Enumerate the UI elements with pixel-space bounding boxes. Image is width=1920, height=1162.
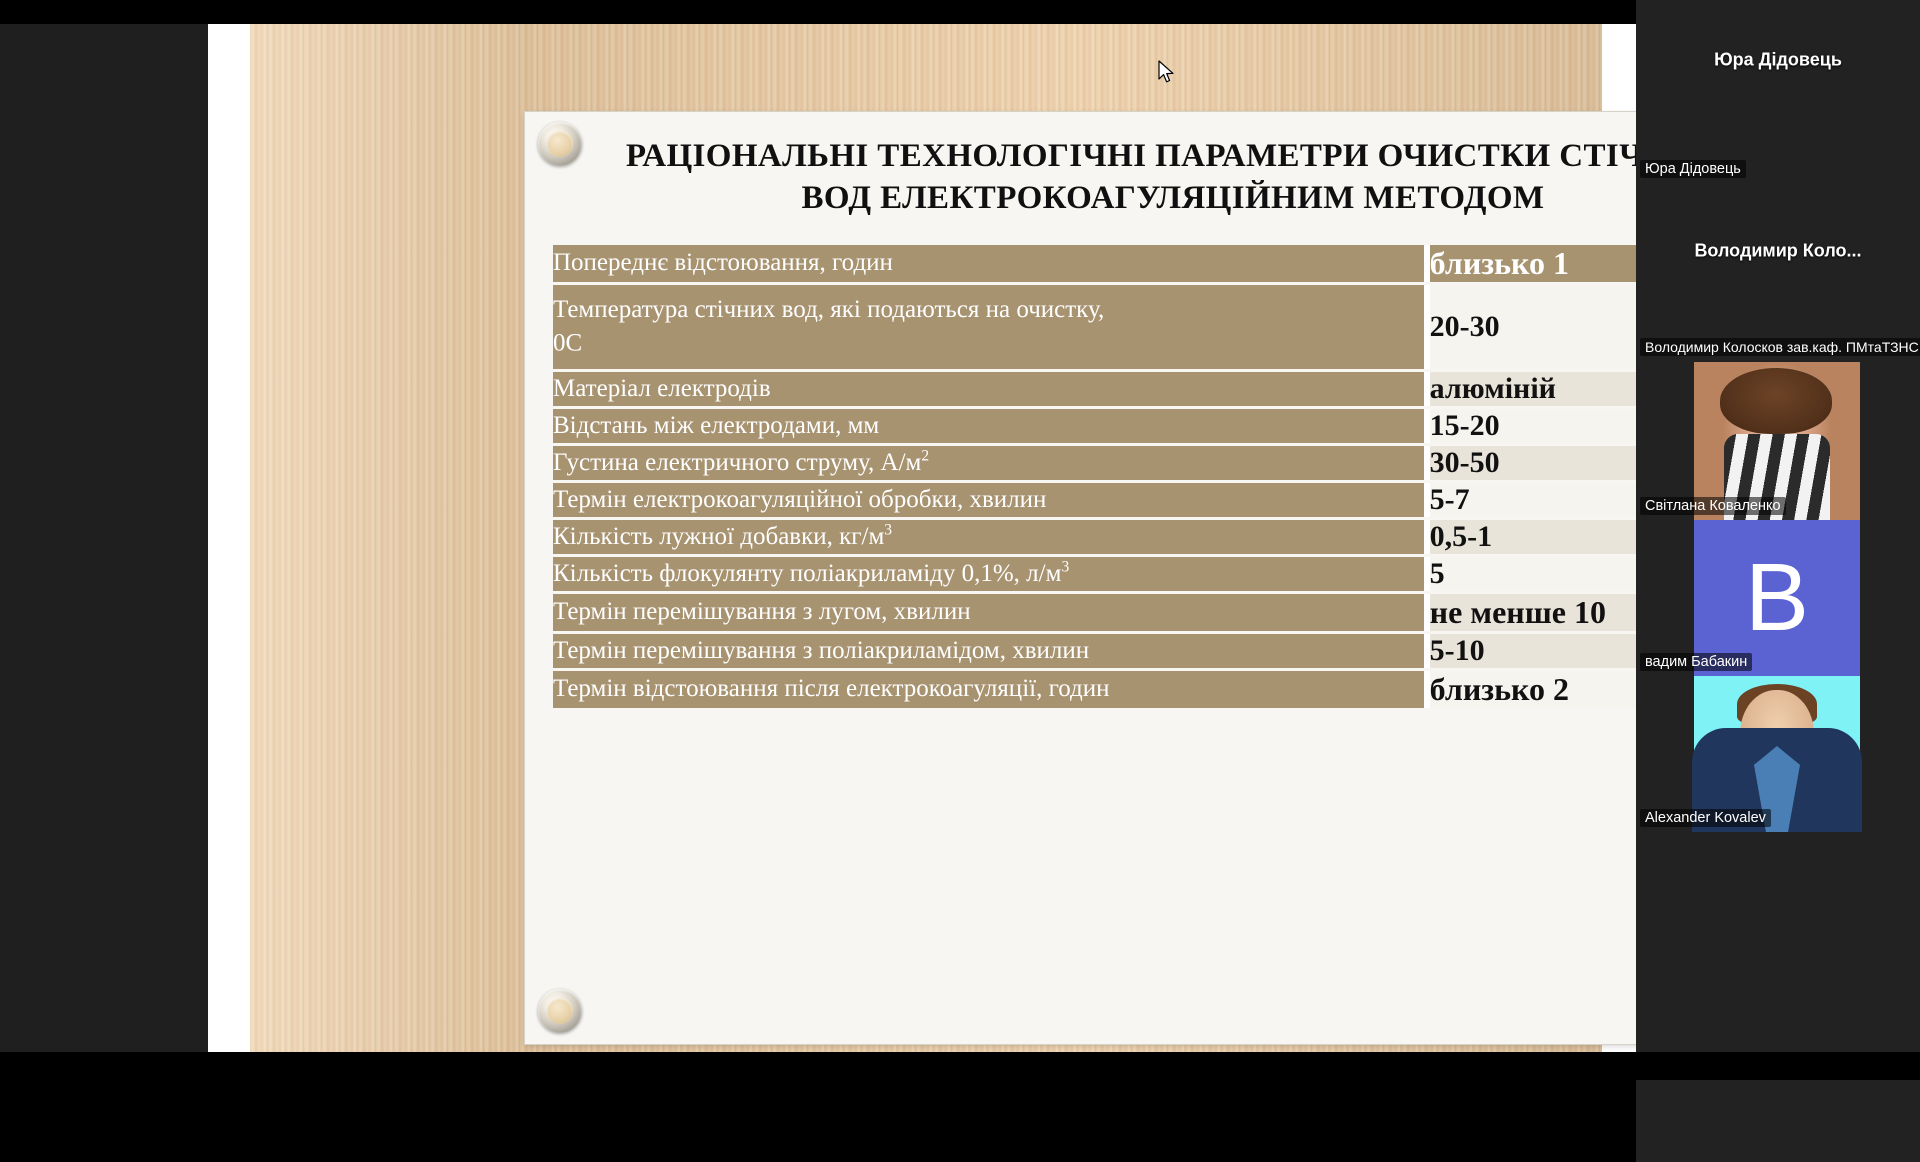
table-row: Попереднє відстоювання, годин близько 1 <box>553 245 1636 282</box>
participant-name-label: Alexander Kovalev <box>1640 809 1771 827</box>
parameters-table-body: Попереднє відстоювання, годин близько 1 … <box>553 245 1636 708</box>
row-value: 20-30 <box>1424 285 1636 369</box>
row-value: 0,5-1 <box>1424 520 1636 554</box>
row-label-text: Температура стічних вод, які подаються н… <box>553 296 1424 359</box>
row-label: Термін перемішування з лугом, хвилин <box>553 594 1424 631</box>
row-label: Попереднє відстоювання, годин <box>553 245 1424 282</box>
row-value: 15-20 <box>1424 409 1636 443</box>
participant-center-name: Юра Дідовець <box>1636 50 1920 71</box>
row-value: 5-10 <box>1424 634 1636 668</box>
row-label: Кількість флокулянту поліакриламіду 0,1%… <box>553 557 1424 591</box>
letterbox-bottom-bar <box>0 1052 1920 1080</box>
participant-caption-volodymyr-koloskov: Володимир Колосков зав.каф. ПМтаТЗНС <box>1636 306 1920 362</box>
table-row: Термін відстоювання після електрокоагуля… <box>553 671 1636 708</box>
row-label: Відстань між електродами, мм <box>553 409 1424 443</box>
row-value: не менше 10 <box>1424 594 1636 631</box>
slide-title: РАЦІОНАЛЬНІ ТЕХНОЛОГІЧНІ ПАРАМЕТРИ ОЧИСТ… <box>598 136 1636 219</box>
table-row: Термін перемішування з поліакриламідом, … <box>553 634 1636 668</box>
screw-decoration-top-left <box>538 122 582 166</box>
row-value: близько 1 <box>1424 245 1636 282</box>
row-label: Термін перемішування з поліакриламідом, … <box>553 634 1424 668</box>
table-row: Відстань між електродами, мм 15-20 <box>553 409 1636 443</box>
parameters-table: Попереднє відстоювання, годин близько 1 … <box>553 242 1636 711</box>
row-label: Матеріал електродів <box>553 372 1424 406</box>
participant-center-name: Володимир Коло... <box>1636 241 1920 262</box>
row-label-text: Кількість флокулянту поліакриламіду 0,1%… <box>553 560 1069 587</box>
shared-slide-stage[interactable]: РАЦІОНАЛЬНІ ТЕХНОЛОГІЧНІ ПАРАМЕТРИ ОЧИСТ… <box>208 24 1636 1056</box>
table-row: Матеріал електродів алюміній <box>553 372 1636 406</box>
letterbox-top-bar <box>0 0 1636 24</box>
participants-rail[interactable]: Юра Дідовець Юра Дідовець Володимир Коло… <box>1636 0 1920 1080</box>
participant-tile-vadym-babakin[interactable]: В вадим Бабакин <box>1636 520 1920 676</box>
row-value: 5-7 <box>1424 483 1636 517</box>
participant-tile-yura-didovets[interactable]: Юра Дідовець <box>1636 0 1920 120</box>
row-label: Температура стічних вод, які подаються н… <box>553 285 1424 369</box>
row-value: близько 2 <box>1424 671 1636 708</box>
participants-rail-empty-space <box>1636 832 1920 1162</box>
row-value: 5 <box>1424 557 1636 591</box>
participant-tile-volodymyr-koloskov[interactable]: Володимир Коло... <box>1636 196 1920 306</box>
participant-caption-yura-didovets: Юра Дідовець <box>1636 120 1920 196</box>
table-row: Температура стічних вод, які подаються н… <box>553 285 1636 369</box>
participant-name-label: вадим Бабакин <box>1640 653 1752 671</box>
row-label-text: Кількість лужної добавки, кг/м3 <box>553 523 892 550</box>
row-label-text: Густина електричного струму, А/м2 <box>553 449 929 476</box>
participant-name-label: Володимир Колосков зав.каф. ПМтаТЗНС <box>1640 338 1920 356</box>
participant-name-label: Юра Дідовець <box>1640 160 1746 178</box>
row-label: Густина електричного струму, А/м2 <box>553 446 1424 480</box>
row-label: Термін електрокоагуляційної обробки, хви… <box>553 483 1424 517</box>
participant-tile-alexander-kovalev[interactable]: Alexander Kovalev <box>1636 676 1920 832</box>
participant-name-label: Світлана Коваленко <box>1640 497 1786 515</box>
row-value: алюміній <box>1424 372 1636 406</box>
row-label: Термін відстоювання після електрокоагуля… <box>553 671 1424 708</box>
mouse-pointer-icon <box>1158 60 1176 86</box>
left-background-panel <box>0 0 208 1080</box>
screw-decoration-bottom-left <box>538 989 582 1033</box>
table-row: Термін електрокоагуляційної обробки, хви… <box>553 483 1636 517</box>
table-row: Кількість лужної добавки, кг/м3 0,5-1 <box>553 520 1636 554</box>
row-label: Кількість лужної добавки, кг/м3 <box>553 520 1424 554</box>
table-row: Термін перемішування з лугом, хвилин не … <box>553 594 1636 631</box>
row-value: 30-50 <box>1424 446 1636 480</box>
slide-left-margin <box>208 24 250 1056</box>
table-row: Кількість флокулянту поліакриламіду 0,1%… <box>553 557 1636 591</box>
participant-tile-svitlana-kovalenko[interactable]: Світлана Коваленко <box>1636 362 1920 520</box>
table-row: Густина електричного струму, А/м2 30-50 <box>553 446 1636 480</box>
